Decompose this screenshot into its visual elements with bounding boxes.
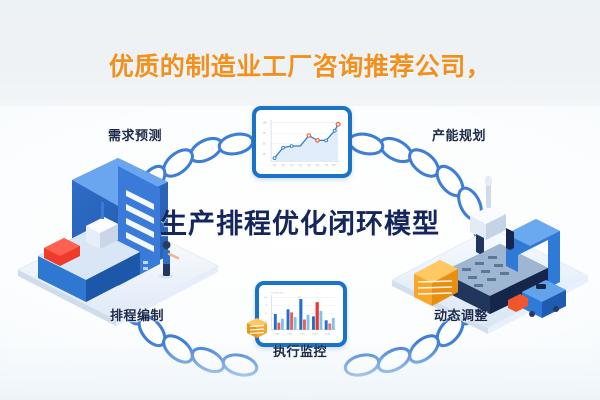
node-label-demand-forecast[interactable]: 需求预测 [108,125,162,144]
page-title-line-1: 优质的制造业工厂咨询推荐公司， [0,51,600,84]
isometric-factory-machine [18,158,218,326]
node-label-dynamic-adjustment[interactable]: 动态调整 [434,305,488,324]
diagram-center-title: 生产排程优化闭环模型 [0,202,600,241]
header-band: 优质的制造业工厂咨询推荐公司， 能解决生产排程脱节问题的吗？ [0,0,600,106]
line-chart-demand-trend: 10075 5025 1月2月3月 4月5月6月 7月8月 [259,113,345,171]
infographic-page: 优质的制造业工厂咨询推荐公司， 能解决生产排程脱节问题的吗？ [0,0,600,400]
svg-text:100: 100 [262,121,267,125]
tablet-top-screen: 10075 5025 1月2月3月 4月5月6月 7月8月 [259,113,345,171]
bar-chart-execution-monitoring: 计划 实际 差异 10075 5025 [262,288,340,340]
tablet-bottom-screen: 计划 实际 差异 10075 5025 [262,288,340,340]
isometric-cnc-machine [392,176,588,334]
node-label-capacity-planning[interactable]: 产能规划 [432,125,486,144]
tablet-demand-forecast-chart[interactable]: 10075 5025 1月2月3月 4月5月6月 7月8月 [252,106,352,178]
node-label-execution-monitoring[interactable]: 执行监控 [0,341,600,360]
document-stack-icon [244,317,270,339]
svg-text:92: 92 [298,296,300,298]
node-label-schedule-preparation[interactable]: 排程编制 [110,305,164,324]
